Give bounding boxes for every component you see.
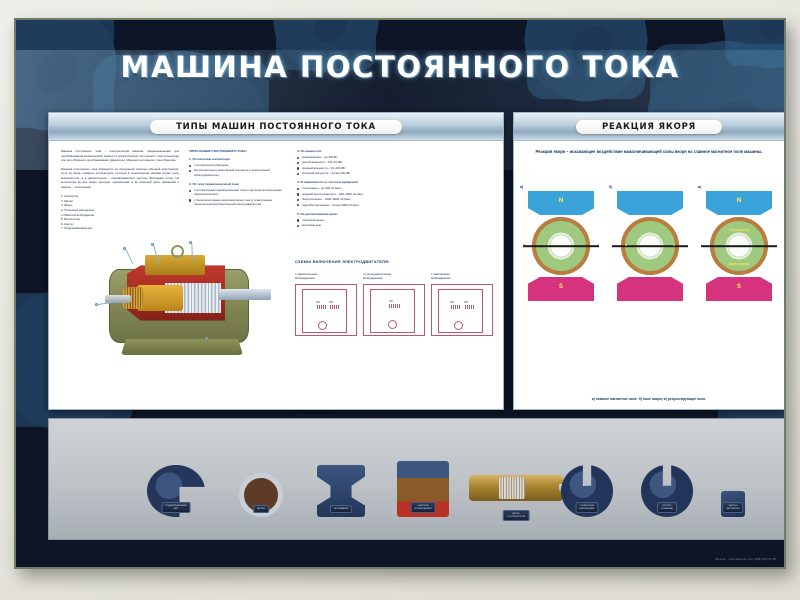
- armature-cross-section: Генератор Двигатель: [710, 217, 768, 275]
- motor-shaft-right: [219, 289, 271, 300]
- list-item: быстроходные – 1500–6000 об./мин.;: [297, 197, 407, 201]
- list-item: с коллекторным переключателем тока (с щё…: [189, 188, 287, 197]
- circuit-label: RR: [316, 300, 320, 304]
- exhibit-plate: ОБМОТКА ВОЗБУЖДЕНИЯ: [411, 502, 436, 513]
- motor-armature-core: [137, 285, 183, 311]
- armature-reaction-definition: Реакция якоря – искажающее воздействие н…: [520, 149, 778, 156]
- field-coil-turns: [523, 279, 528, 299]
- panel-header-armature-reaction: РЕАКЦИЯ ЯКОРЯ: [514, 113, 784, 141]
- armature-symbol: [388, 320, 397, 329]
- list-item: микромашины – до 500 Вт;: [297, 155, 407, 159]
- field-coil-turns: [523, 193, 528, 213]
- group-heading: 5. По расположению вала:: [297, 212, 407, 216]
- callout-leader: [192, 243, 193, 261]
- plate-line-2: ВОЗБУЖДЕНИЯ: [415, 508, 432, 511]
- south-pole-shoe: S: [706, 277, 772, 301]
- circuit-caption: с последовательным возбуждением: [363, 273, 425, 284]
- south-pole-shoe: [617, 277, 683, 301]
- motor-field-pole: [145, 255, 205, 275]
- figure-label: а): [520, 185, 602, 189]
- exhibit-plate: ЩЁТКИ: [253, 505, 269, 513]
- group-items: с коллекторным переключателем тока (с щё…: [189, 188, 287, 206]
- pole-letter-s: S: [528, 283, 594, 290]
- intro-paragraph-1: Машина постоянного тока – электрическая …: [61, 149, 179, 163]
- north-pole-shoe: N: [706, 191, 772, 215]
- inner-pole-letter-s: S: [673, 243, 675, 247]
- description-column: Машина постоянного тока – электрическая …: [61, 149, 179, 231]
- north-pole-shoe: N: [528, 191, 594, 215]
- exhibit-armature[interactable]: ЯКОРЬ С КОЛЛЕКТОРОМ: [469, 475, 563, 501]
- figure-resultant-field: в) N Генератор Двигатель: [698, 185, 780, 301]
- intro-paragraph-2: Машина постоянного тока образуется из си…: [61, 167, 179, 190]
- classification-column-b: 3. По мощности: микромашины – до 500 Вт;…: [297, 149, 407, 229]
- list-item: сверхбыстроходные – более 6000 об./мин.: [297, 203, 407, 207]
- circuit-caption: с смешанным возбуждением: [431, 273, 493, 284]
- panel-body-armature-reaction: Реакция якоря – искажающее воздействие н…: [514, 141, 784, 409]
- figures-caption: а) главное магнитное поле; б) поле якоря…: [514, 397, 784, 401]
- circuit-label: RB: [329, 300, 333, 304]
- list-item: средней быстроходности – 300–1500 об./ми…: [297, 192, 407, 196]
- exhibit-frame[interactable]: КОРПУС (СТАНИНА): [641, 465, 693, 517]
- armature-cross-section: n n: [532, 217, 590, 275]
- exhibit-pole-shoe[interactable]: ПОЛЮСНОЙ НАКОНЕЧНИК: [561, 465, 613, 517]
- circuits-title: СХЕМЫ ВКЛЮЧЕНИЯ ЭЛЕКТРОДВИГАТЕЛЯ:: [295, 259, 497, 264]
- circuit-series: с последовательным возбуждением RP: [363, 273, 425, 336]
- circuit-compound: с смешанным возбуждением RR RB: [431, 273, 493, 336]
- list-item: большой мощности – более 200 кВт.: [297, 171, 407, 175]
- exhibit-plate: ПОДШИПНИКОВЫЙ ЩИТ: [162, 502, 191, 513]
- commutator-part: [499, 477, 525, 499]
- group-heading: 1. По наличию коллектора:: [189, 157, 287, 161]
- circuit-label: RR: [450, 300, 454, 304]
- group-heading: 3. По мощности:: [297, 149, 407, 153]
- exhibit-field-winding[interactable]: ОБМОТКА ВОЗБУЖДЕНИЯ: [397, 461, 449, 517]
- plate-line-2: ЩИТ: [166, 508, 187, 511]
- panel-body-machine-types: Машина постоянного тока – электрическая …: [49, 141, 503, 409]
- panel-header-machine-types: ТИПЫ МАШИН ПОСТОЯННОГО ТОКА: [49, 113, 503, 141]
- axis-label: n: [523, 243, 525, 247]
- parts-legend-list: 1. Коллектор 2. Щётки 3. Якорь 4. Полюсн…: [61, 194, 179, 231]
- circuit-diagram: RR RB: [431, 284, 493, 336]
- panel-machine-types: ТИПЫ МАШИН ПОСТОЯННОГО ТОКА Машина посто…: [48, 112, 504, 410]
- exhibit-brush-holder[interactable]: ЩЁТКО- ДЕРЖАТЕЛЬ: [721, 491, 745, 517]
- axis-label: n: [597, 243, 599, 247]
- list-item: вертикальные.: [297, 223, 407, 227]
- motor-label: Двигатель: [710, 262, 768, 266]
- field-coil-turns: [701, 193, 706, 213]
- exhibit-plate: ПОЛЮСНОЙ НАКОНЕЧНИК: [576, 502, 599, 513]
- group-items: горизонтальные; вертикальные.: [297, 218, 407, 228]
- field-coil-turns: [594, 279, 599, 299]
- group-items: с коллектором (обычные); без коллектора …: [189, 163, 287, 177]
- figure-label: б): [609, 185, 691, 189]
- exhibit-brushes[interactable]: ЩЁТКИ: [239, 473, 283, 517]
- pole-letter-n: N: [528, 197, 594, 204]
- neutral-axis: [523, 245, 599, 247]
- armature-symbol: [318, 321, 327, 330]
- south-pole-shoe: S: [528, 277, 594, 301]
- classification-title: ТИПЫ МАШИН ПОСТОЯННОГО ТОКА:: [189, 149, 287, 153]
- exhibit-base[interactable]: ОСНОВАНИЕ: [317, 465, 365, 517]
- circuit-diagram: RP: [363, 284, 425, 336]
- list-item: тихоходные – до 300 об./мин.;: [297, 186, 407, 190]
- field-coil-turns: [594, 193, 599, 213]
- circuit-diagram: RR RB: [295, 284, 357, 336]
- exhibit-plate: ОСНОВАНИЕ: [330, 505, 352, 513]
- list-item: 7. Подшипниковый щит: [61, 226, 179, 231]
- component-display-shelf: ПОДШИПНИКОВЫЙ ЩИТ ЩЁТКИ ОСНОВАНИЕ: [48, 418, 785, 540]
- neutral-axis: [701, 245, 777, 247]
- list-item: без коллектора (униполярный генератор и …: [189, 168, 287, 177]
- plate-line-2: НАКОНЕЧНИК: [580, 508, 595, 511]
- inner-pole-letter-n: N: [625, 243, 627, 247]
- plate-line-1: ЩЁТКИ: [257, 508, 265, 511]
- armature-rotor-part: [469, 475, 563, 501]
- field-coil-turns: [612, 279, 617, 299]
- circuit-caption: с параллельным возбуждением: [295, 273, 357, 284]
- motor-base-foot: [121, 339, 243, 355]
- exhibit-plate: ЩЁТКО- ДЕРЖАТЕЛЬ: [722, 502, 743, 513]
- pole-letter-s: S: [706, 283, 772, 290]
- neutral-axis: [612, 245, 688, 247]
- north-pole-shoe: [617, 191, 683, 215]
- plate-line-2: С КОЛЛЕКТОРОМ: [507, 516, 526, 519]
- callout-leader: [126, 249, 134, 264]
- motor-connection-diagrams: СХЕМЫ ВКЛЮЧЕНИЯ ЭЛЕКТРОДВИГАТЕЛЯ: с пара…: [295, 259, 497, 409]
- field-coil-turns: [701, 279, 706, 299]
- list-item: горизонтальные;: [297, 218, 407, 222]
- classification-column-a: ТИПЫ МАШИН ПОСТОЯННОГО ТОКА: 1. По налич…: [189, 149, 287, 208]
- poster-wall: МАШИНА ПОСТОЯННОГО ТОКА ТИПЫ МАШИН ПОСТО…: [0, 0, 800, 600]
- plate-line-1: ОСНОВАНИЕ: [334, 508, 348, 511]
- group-items: тихоходные – до 300 об./мин.; средней бы…: [297, 186, 407, 206]
- poster-title-bar: МАШИНА ПОСТОЯННОГО ТОКА: [16, 50, 784, 84]
- page-title: МАШИНА ПОСТОЯННОГО ТОКА: [121, 50, 680, 84]
- circuit-label: RP: [389, 299, 393, 303]
- exhibit-plate: ЯКОРЬ С КОЛЛЕКТОРОМ: [503, 510, 530, 521]
- list-item: с коллектором (обычные);: [189, 163, 287, 167]
- panel-armature-reaction: РЕАКЦИЯ ЯКОРЯ Реакция якоря – искажающее…: [513, 112, 785, 410]
- field-coil-turns: [772, 193, 777, 213]
- list-item: с бесколлекторным переключателем тока (с…: [189, 198, 287, 207]
- panel-title-armature-reaction: РЕАКЦИЯ ЯКОРЯ: [576, 120, 722, 134]
- figure-label: в): [698, 185, 780, 189]
- pole-letter-n: N: [706, 197, 772, 204]
- circuit-shunt: с параллельным возбуждением RR RB: [295, 273, 357, 336]
- list-item: средней мощности – 10–200 кВт;: [297, 166, 407, 170]
- armature-cross-section: N S: [621, 217, 679, 275]
- exhibit-plate: КОРПУС (СТАНИНА): [657, 502, 677, 513]
- group-items: микромашины – до 500 Вт; малой мощности …: [297, 155, 407, 175]
- group-heading: 4. В зависимости от частоты вращения:: [297, 180, 407, 184]
- poster-board: МАШИНА ПОСТОЯННОГО ТОКА ТИПЫ МАШИН ПОСТО…: [14, 18, 786, 569]
- circuit-label: RB: [464, 300, 468, 304]
- figure-armature-field: б) N S: [609, 185, 691, 301]
- plate-line-2: ДЕРЖАТЕЛЬ: [726, 508, 739, 511]
- motor-lifting-eye: [171, 245, 184, 258]
- figure-main-magnetic-field: а) N n n: [520, 185, 602, 301]
- panel-title-machine-types: ТИПЫ МАШИН ПОСТОЯННОГО ТОКА: [150, 120, 402, 134]
- armature-symbol: [454, 321, 463, 330]
- manufacturer-note: Логотип · изготовитель тел. (495) 007-47…: [715, 558, 776, 561]
- field-coil-turns: [772, 279, 777, 299]
- generator-label: Генератор: [710, 228, 768, 232]
- exhibit-end-shield[interactable]: ПОДШИПНИКОВЫЙ ЩИТ: [147, 465, 205, 517]
- field-coil-turns: [612, 193, 617, 213]
- magnetic-field-figures: а) N n n: [520, 185, 780, 301]
- group-heading: 2. По типу переключателей тока:: [189, 182, 287, 186]
- dc-motor-cutaway-illustration: [93, 241, 279, 359]
- plate-line-2: (СТАНИНА): [661, 508, 673, 511]
- list-item: малой мощности – 0,5–10 кВт;: [297, 160, 407, 164]
